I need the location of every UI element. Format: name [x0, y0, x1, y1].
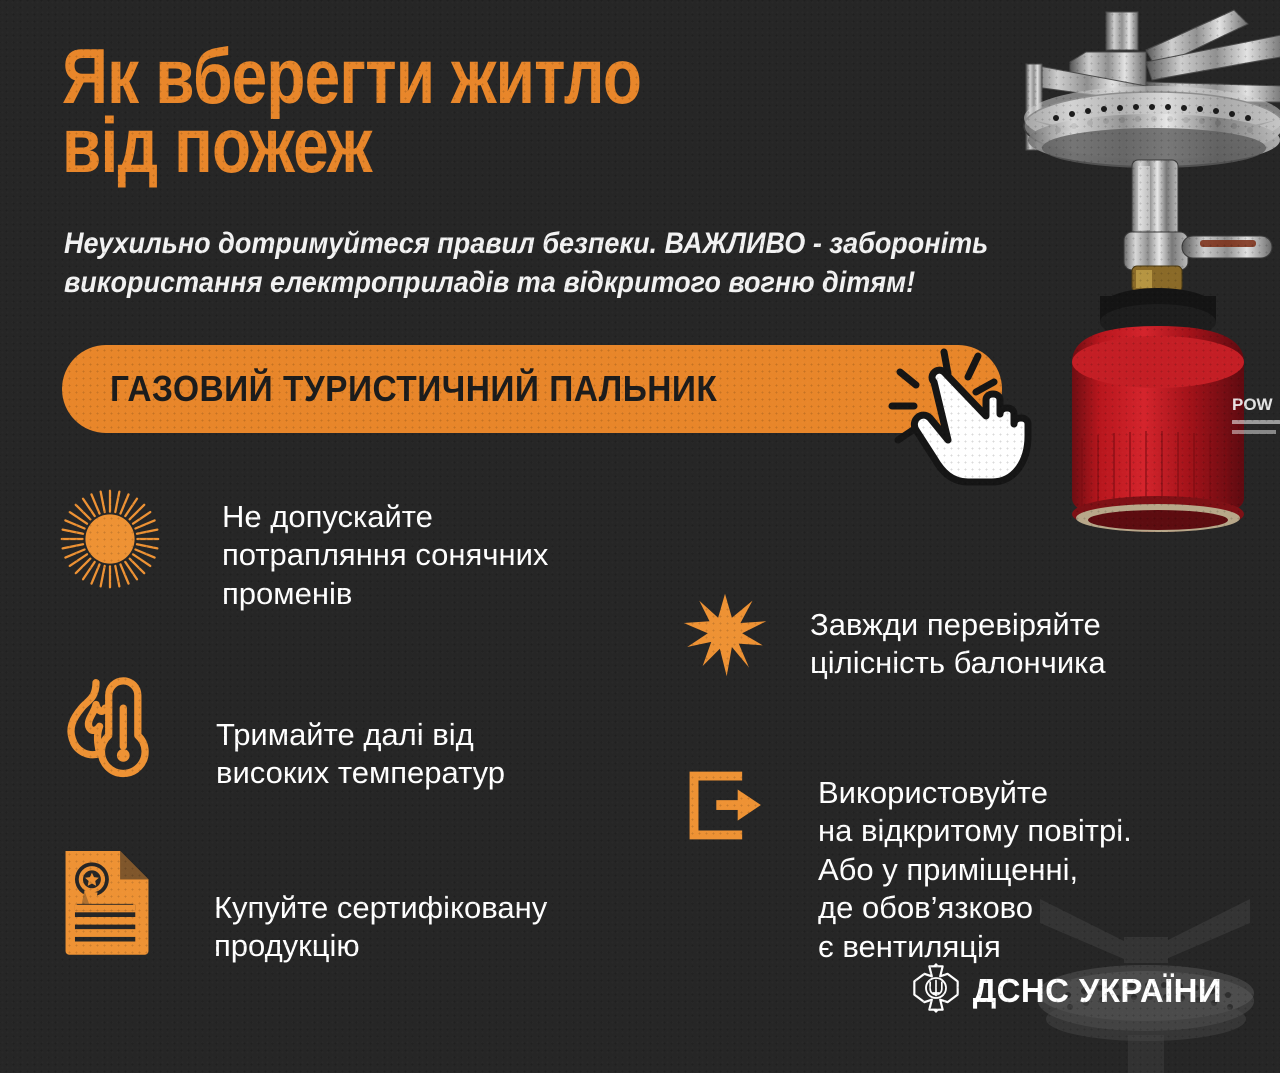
gas-camping-burner-photo: POW	[986, 0, 1280, 550]
tip-text-outdoor: Використовуйте на відкритому повітрі. Аб…	[818, 774, 1132, 966]
tip-item-certificate: Купуйте сертифіковану продукцію	[58, 845, 547, 966]
page-title: Як вберегти житло від пожеж	[62, 42, 800, 179]
svg-text:POW: POW	[1232, 395, 1274, 414]
tip-text-certificate: Купуйте сертифіковану продукцію	[214, 889, 547, 966]
banner-label: ГАЗОВИЙ ТУРИСТИЧНИЙ ПАЛЬНИК	[110, 368, 717, 410]
dsns-logo-text: ДСНС УКРАЇНИ	[973, 972, 1222, 1010]
subtitle-text: Неухильно дотримуйтеся правил безпеки. В…	[64, 224, 1000, 302]
tip-text-sun: Не допускайте потрапляння сонячних проме…	[222, 498, 548, 613]
tip-text-burst: Завжди перевіряйте цілісність балончика	[810, 606, 1106, 683]
explosion-burst-icon	[682, 592, 768, 683]
gas-burner-banner-button[interactable]: ГАЗОВИЙ ТУРИСТИЧНИЙ ПАЛЬНИК	[62, 345, 1002, 433]
exit-arrow-icon	[686, 768, 768, 848]
tip-text-heat: Тримайте далі від високих температур	[216, 716, 505, 793]
dsns-cross-trident-emblem	[911, 963, 961, 1018]
infographic-poster: POW	[0, 0, 1280, 1073]
dsns-logo: ДСНС УКРАЇНИ	[911, 963, 1222, 1018]
certificate-document-icon	[58, 845, 156, 962]
tip-item-burst: Завжди перевіряйте цілісність балончика	[682, 592, 1106, 683]
sun-rays-icon	[58, 487, 162, 596]
tip-item-heat: Тримайте далі від високих температур	[56, 668, 505, 793]
tip-item-sun: Не допускайте потрапляння сонячних проме…	[58, 487, 548, 613]
tip-item-outdoor: Використовуйте на відкритому повітрі. Аб…	[686, 768, 1132, 966]
flame-thermometer-icon	[56, 668, 156, 786]
